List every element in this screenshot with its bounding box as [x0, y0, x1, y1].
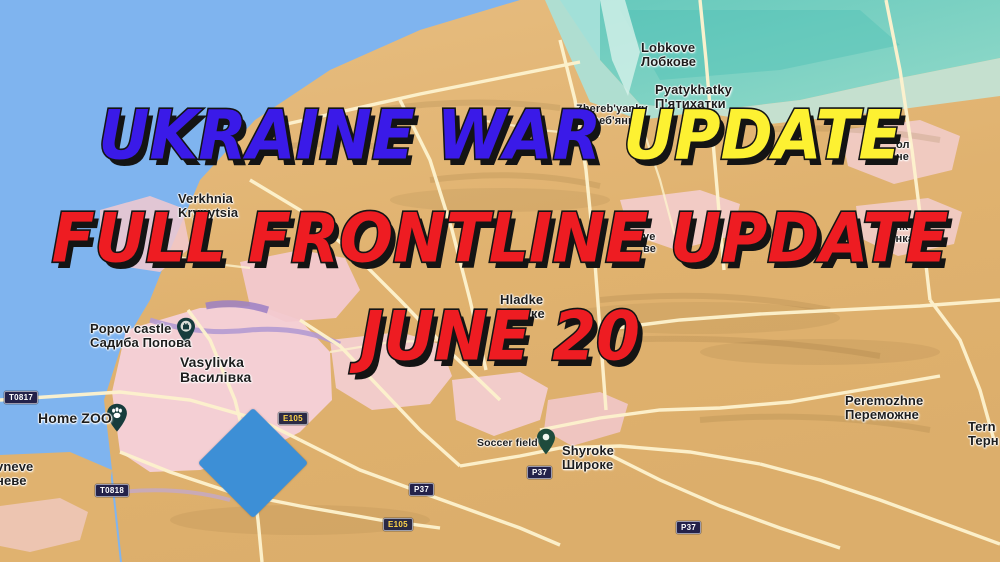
map-label-verkhnia-krynytsia: Verkhnia Krynytsia: [178, 192, 238, 220]
road-shield-t0818[interactable]: T0818: [95, 484, 129, 497]
label-latin: Vasylivka: [180, 355, 251, 370]
label-cyrillic: Krynytsia: [178, 206, 238, 220]
label-latin: vneve: [0, 460, 33, 474]
label-cyrillic: Василівка: [180, 370, 251, 385]
label-cyrillic: не: [896, 152, 910, 164]
road-shield-e105-b[interactable]: E105: [383, 518, 413, 531]
map-label-right-obscured-b: ynk янка: [889, 222, 914, 246]
map-label-shyroke: Shyroke Широке: [562, 444, 614, 472]
label-cyrillic: Терн: [968, 434, 999, 448]
label-cyrillic: Жереб'янки: [576, 116, 648, 128]
label-latin: Pyatykhatky: [655, 83, 732, 97]
label-latin: Shyroke: [562, 444, 614, 458]
road-shield-p37-b[interactable]: P37: [527, 466, 552, 479]
map-label-vasylivka: Vasylivka Василівка: [180, 355, 251, 385]
label-latin: Peremozhne: [845, 394, 923, 408]
label-latin: Popov castle: [90, 322, 191, 336]
map-label-right-obscured-a: ол не: [896, 140, 910, 164]
road-shield-t0817[interactable]: T0817: [4, 391, 38, 404]
label-latin: Hladke: [500, 293, 545, 307]
map-label-peremozhne: Peremozhne Переможне: [845, 394, 923, 422]
label-cyrillic: Лобкове: [641, 55, 696, 69]
map-label-zherebyanky: Zhereb'yanky Жереб'янки: [576, 104, 648, 128]
map-label-left-edge-cut: vneve неве: [0, 460, 33, 488]
map-label-lobkove: Lobkove Лобкове: [641, 41, 696, 69]
map-label-home-zoo: Home ZOO: [38, 411, 112, 426]
map-label-mid-obscured: ve ве: [643, 232, 656, 256]
map-label-popov-castle: Popov castle Садиба Попова: [90, 322, 191, 350]
location-pin-icon[interactable]: [536, 428, 556, 455]
map-label-hladke: Hladke Гладке: [500, 293, 545, 321]
label-latin: Verkhnia: [178, 192, 238, 206]
label-latin: Soccer field: [477, 438, 538, 449]
label-cyrillic: янка: [889, 234, 914, 246]
label-cyrillic: Переможне: [845, 408, 923, 422]
road-shield-p37-c[interactable]: P37: [676, 521, 701, 534]
label-latin: Tern: [968, 420, 999, 434]
label-cyrillic: П'ятихатки: [655, 97, 732, 111]
label-cyrillic: Садиба Попова: [90, 336, 191, 350]
map-label-ternuvate: Tern Терн: [968, 420, 999, 448]
label-latin: Home ZOO: [38, 411, 112, 426]
label-cyrillic: неве: [0, 474, 33, 488]
map-label-soccer-field: Soccer field: [477, 438, 538, 449]
label-cyrillic: Гладке: [500, 307, 545, 321]
label-cyrillic: Широке: [562, 458, 614, 472]
road-shield-p37-a[interactable]: P37: [409, 483, 434, 496]
road-shield-e105-a[interactable]: E105: [278, 412, 308, 425]
label-latin: Lobkove: [641, 41, 696, 55]
label-cyrillic: ве: [643, 244, 656, 256]
youtube-thumbnail: Lobkove Лобкове Pyatykhatky П'ятихатки Z…: [0, 0, 1000, 562]
map-base-graphic: [0, 0, 1000, 562]
map-label-pyatykhatky: Pyatykhatky П'ятихатки: [655, 83, 732, 111]
